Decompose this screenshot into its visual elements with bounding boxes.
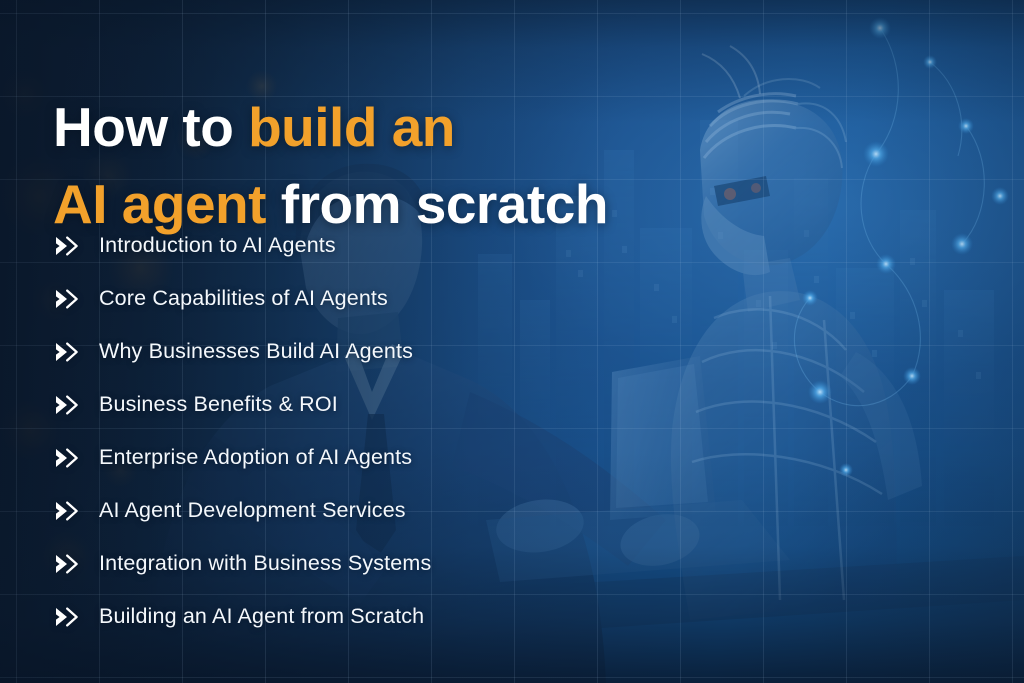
headline-line-1: How to build an	[53, 89, 813, 166]
double-chevron-right-icon	[53, 445, 79, 471]
double-chevron-right-icon	[53, 551, 79, 577]
double-chevron-right-icon	[53, 498, 79, 524]
list-item[interactable]: Core Capabilities of AI Agents	[53, 272, 773, 325]
list-item-label: AI Agent Development Services	[99, 498, 406, 523]
list-item-label: Core Capabilities of AI Agents	[99, 286, 388, 311]
double-chevron-right-icon	[53, 339, 79, 365]
double-chevron-right-icon	[53, 604, 79, 630]
list-item[interactable]: Integration with Business Systems	[53, 537, 773, 590]
double-chevron-right-icon	[53, 286, 79, 312]
headline-accent-build-an: build an	[248, 96, 455, 158]
list-item[interactable]: Building an AI Agent from Scratch	[53, 590, 773, 643]
list-item[interactable]: AI Agent Development Services	[53, 484, 773, 537]
list-item[interactable]: Why Businesses Build AI Agents	[53, 325, 773, 378]
double-chevron-right-icon	[53, 392, 79, 418]
list-item-label: Integration with Business Systems	[99, 551, 431, 576]
list-item[interactable]: Introduction to AI Agents	[53, 219, 773, 272]
list-item-label: Why Businesses Build AI Agents	[99, 339, 413, 364]
headline-text-how-to: How to	[53, 96, 248, 158]
table-of-contents-list: Introduction to AI Agents Core Capabilit…	[53, 219, 773, 643]
list-item-label: Building an AI Agent from Scratch	[99, 604, 424, 629]
list-item[interactable]: Business Benefits & ROI	[53, 378, 773, 431]
ai-agent-banner: How to build an AI agent from scratch In…	[0, 0, 1024, 683]
list-item-label: Business Benefits & ROI	[99, 392, 338, 417]
double-chevron-right-icon	[53, 233, 79, 259]
list-item[interactable]: Enterprise Adoption of AI Agents	[53, 431, 773, 484]
list-item-label: Enterprise Adoption of AI Agents	[99, 445, 412, 470]
list-item-label: Introduction to AI Agents	[99, 233, 336, 258]
